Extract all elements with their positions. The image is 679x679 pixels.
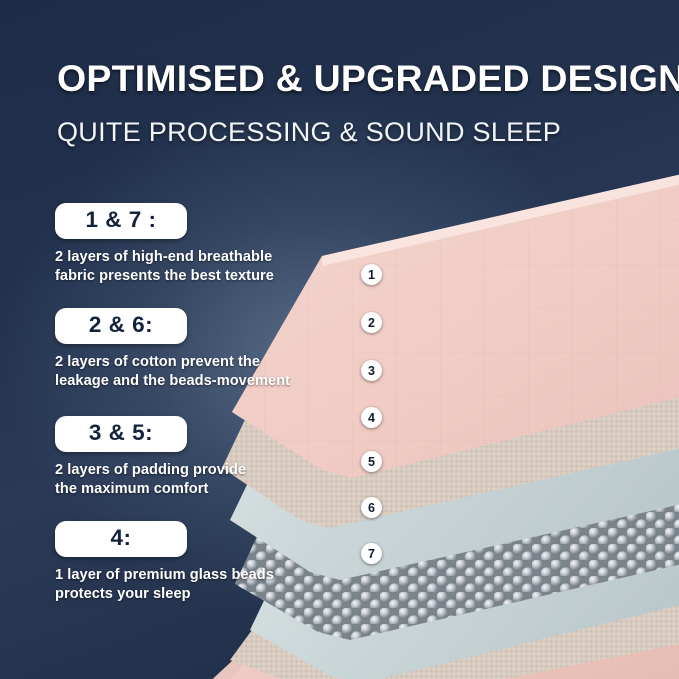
info-desc-line: protects your sleep: [55, 585, 315, 604]
info-desc-line: 2 layers of padding provide: [55, 461, 315, 480]
info-pill-label-3-5: 3 & 5:: [77, 420, 165, 446]
info-desc-layers-1-7: 2 layers of high-end breathable fabric p…: [55, 248, 315, 287]
layer-badge-3[interactable]: 3: [361, 360, 382, 381]
info-pill-label-2-6: 2 & 6:: [77, 312, 165, 338]
layer-badge-6[interactable]: 6: [361, 497, 382, 518]
info-desc-line: leakage and the beads-movement: [55, 372, 315, 391]
info-desc-line: fabric presents the best texture: [55, 267, 315, 286]
layer-badge-7[interactable]: 7: [361, 543, 382, 564]
info-pill-layer-4: 4:: [55, 521, 187, 557]
info-desc-line: 2 layers of cotton prevent the: [55, 353, 315, 372]
info-block-layer-4: 4: 1 layer of premium glass beads protec…: [55, 521, 315, 604]
info-desc-layers-3-5: 2 layers of padding provide the maximum …: [55, 461, 315, 500]
info-desc-line: the maximum comfort: [55, 480, 315, 499]
layer-badge-2[interactable]: 2: [361, 312, 382, 333]
layer-badge-5[interactable]: 5: [361, 451, 382, 472]
info-desc-line: 2 layers of high-end breathable: [55, 248, 315, 267]
layer-badge-1[interactable]: 1: [361, 264, 382, 285]
info-desc-line: 1 layer of premium glass beads: [55, 566, 315, 585]
info-pill-layers-2-6: 2 & 6:: [55, 308, 187, 344]
info-pill-layers-3-5: 3 & 5:: [55, 416, 187, 452]
infographic-poster: OPTIMISED & UPGRADED DESIGN QUITE PROCES…: [0, 0, 679, 679]
info-block-layers-2-6: 2 & 6: 2 layers of cotton prevent the le…: [55, 308, 315, 391]
layer-badge-4[interactable]: 4: [361, 407, 382, 428]
info-pill-label-1-7: 1 & 7 :: [77, 207, 165, 233]
info-pill-layers-1-7: 1 & 7 :: [55, 203, 187, 239]
info-block-layers-1-7: 1 & 7 : 2 layers of high-end breathable …: [55, 203, 315, 286]
info-desc-layers-2-6: 2 layers of cotton prevent the leakage a…: [55, 353, 315, 392]
info-desc-layer-4: 1 layer of premium glass beads protects …: [55, 566, 315, 605]
info-pill-label-4: 4:: [77, 525, 165, 551]
info-block-layers-3-5: 3 & 5: 2 layers of padding provide the m…: [55, 416, 315, 499]
